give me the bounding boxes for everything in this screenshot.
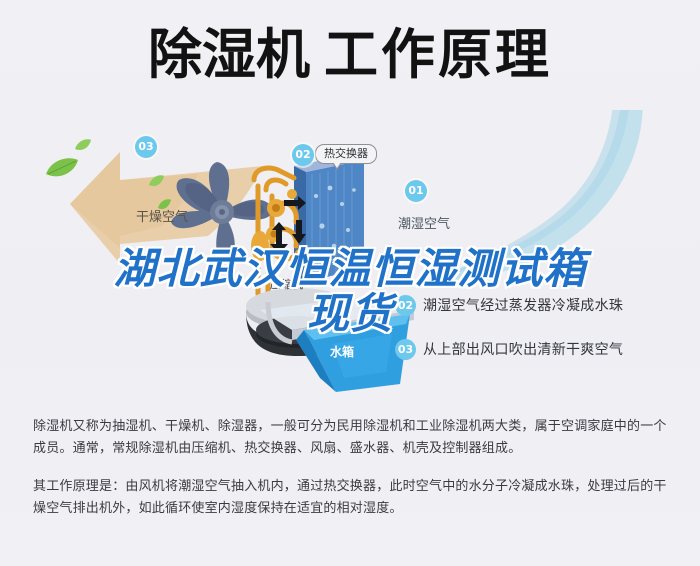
legend-badge-03: 03 [395, 339, 416, 360]
step-marker-02: 02 [292, 144, 314, 166]
page-title: 除湿机工作原理 [0, 28, 700, 82]
description-paragraph-one: 除湿机又称为抽湿机、干燥机、除湿器，一般可分为民用除湿机和工业除湿机两大类，属于… [33, 416, 669, 460]
legend-text-02: 潮湿空气经过蒸发器冷凝成水珠 [423, 295, 623, 315]
label-dry-air: 干燥空气 [136, 206, 188, 225]
leaf-icon [74, 138, 92, 152]
title-part-one: 除湿机 [148, 28, 310, 82]
legend-list: 02 潮湿空气经过蒸发器冷凝成水珠 03 从上部出风口吹出清新干爽空气 [395, 294, 695, 382]
evaporator-block [294, 154, 364, 282]
legend-item: 02 潮湿空气经过蒸发器冷凝成水珠 [395, 294, 695, 316]
label-compressor: 压缩机 [270, 276, 303, 292]
legend-badge-02: 02 [395, 295, 416, 316]
leaf-icon [44, 156, 80, 178]
title-part-two: 工作原理 [324, 28, 552, 82]
description-block: 除湿机又称为抽湿机、干燥机、除湿器，一般可分为民用除湿机和工业除湿机两大类，属于… [33, 416, 669, 520]
description-paragraph-two: 其工作原理是：由风机将潮湿空气抽入机内，通过热交换器，此时空气中的水分子冷凝成水… [33, 476, 669, 520]
step-marker-03: 03 [135, 136, 157, 158]
heat-exchanger-callout: 热交换器 [315, 144, 377, 164]
legend-item: 03 从上部出风口吹出清新干爽空气 [395, 338, 695, 360]
legend-text-03: 从上部出风口吹出清新干爽空气 [423, 339, 623, 359]
label-humid-air: 潮湿空气 [398, 213, 450, 232]
step-marker-01: 01 [405, 180, 427, 202]
dehumidifier-infographic-page: 除湿机工作原理 [0, 0, 700, 566]
working-principle-illustration: 热交换器 01 02 03 干燥空气 潮湿空气 压缩机 水箱 02 潮湿空气经过… [0, 118, 700, 408]
label-water-tank: 水箱 [330, 343, 354, 360]
